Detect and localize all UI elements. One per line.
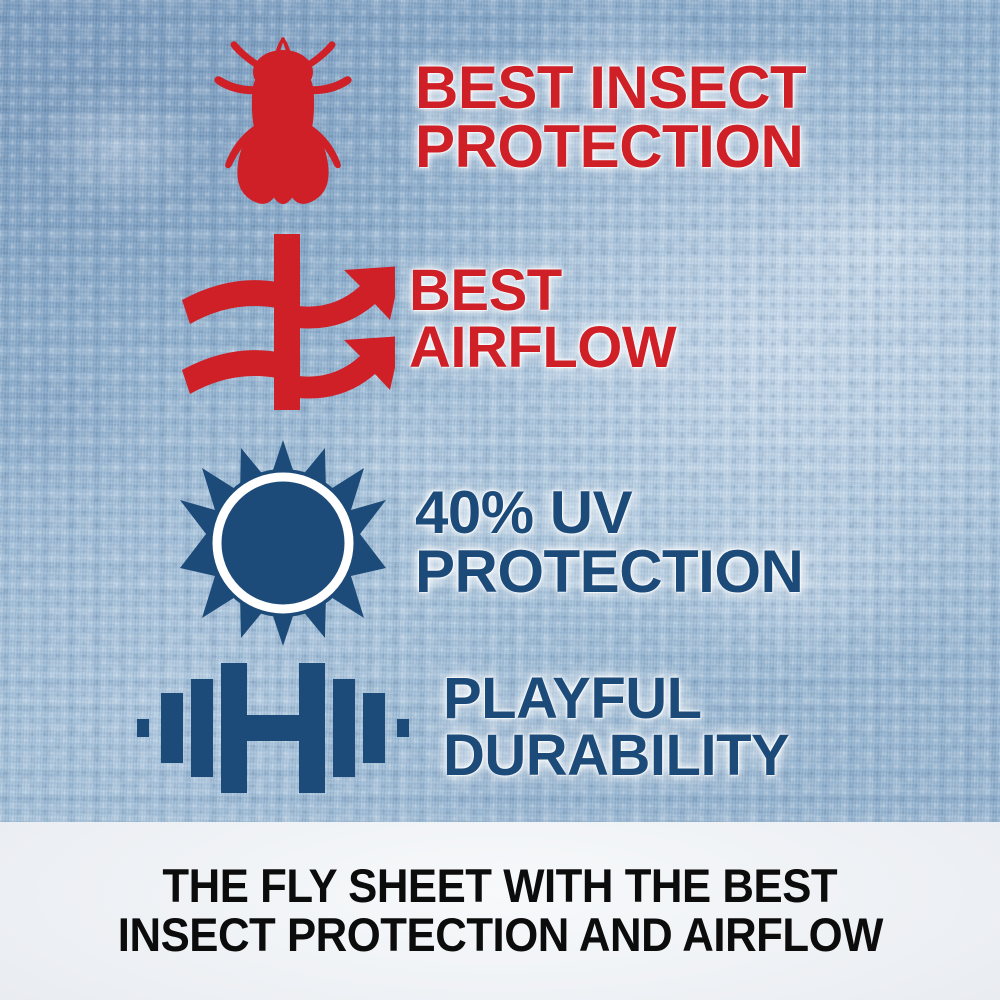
feature-row-durability: PLAYFUL DURABILITY xyxy=(130,645,1000,810)
feature-line-1: 40% UV xyxy=(415,484,803,542)
feature-row-airflow: BEST AIRFLOW xyxy=(150,222,1000,417)
feature-line-2: DURABILITY xyxy=(443,728,789,784)
feature-text-airflow: BEST AIRFLOW xyxy=(409,263,676,376)
caption-line-2: INSECT PROTECTION AND AIRFLOW xyxy=(117,911,882,960)
caption-bar: THE FLY SHEET WITH THE BEST INSECT PROTE… xyxy=(0,822,1000,1000)
sun-uv-icon xyxy=(150,435,415,650)
feature-line-2: AIRFLOW xyxy=(409,320,676,376)
feature-line-1: BEST xyxy=(409,263,676,319)
caption-line-1: THE FLY SHEET WITH THE BEST xyxy=(163,862,838,911)
feature-line-1: PLAYFUL xyxy=(443,671,789,727)
feature-line-2: PROTECTION xyxy=(415,543,803,601)
fly-icon xyxy=(150,20,415,215)
feature-text-insect-protection: BEST INSECT PROTECTION xyxy=(415,59,806,175)
airflow-icon xyxy=(150,222,415,417)
dumbbell-icon xyxy=(130,645,415,810)
feature-line-2: PROTECTION xyxy=(415,118,806,176)
feature-row-uv-protection: 40% UV PROTECTION xyxy=(150,435,1000,650)
feature-text-uv-protection: 40% UV PROTECTION xyxy=(415,484,803,600)
feature-row-insect-protection: BEST INSECT PROTECTION xyxy=(150,20,1000,215)
feature-line-1: BEST INSECT xyxy=(415,59,806,117)
product-feature-infographic: BEST INSECT PROTECTION xyxy=(0,0,1000,1000)
feature-text-durability: PLAYFUL DURABILITY xyxy=(443,671,789,784)
